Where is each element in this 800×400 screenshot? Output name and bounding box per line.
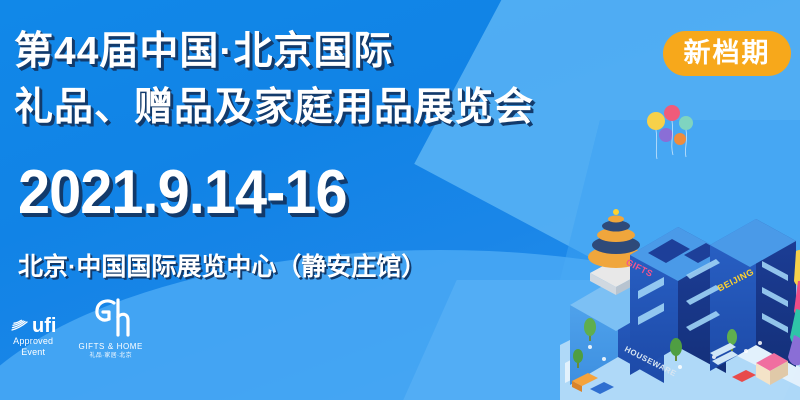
event-venue: 北京·中国国际展览中心（静安庄馆） bbox=[18, 250, 426, 284]
balloons-cluster bbox=[647, 105, 693, 159]
ufi-event-label: Event bbox=[21, 347, 45, 358]
isometric-city-illustration: GIFTS BEIJING HOUSEWARE EXHIBITION bbox=[560, 95, 800, 400]
illustration-artwork bbox=[560, 95, 800, 400]
logo-row: ufi Approved Event GIFTS & HOME 礼品·家居·北京 bbox=[10, 297, 143, 358]
title-line-2: 礼品、赠品及家庭用品展览会 bbox=[14, 80, 634, 136]
new-schedule-badge-label: 新档期 bbox=[684, 40, 771, 67]
headline-block: 第44届中国·北京国际 礼品、赠品及家庭用品展览会 bbox=[14, 24, 634, 136]
new-schedule-badge[interactable]: 新档期 bbox=[663, 31, 791, 76]
gifts-home-subtitle: 礼品·家居·北京 bbox=[90, 352, 132, 360]
ufi-approved-event-logo: ufi Approved Event bbox=[10, 316, 56, 358]
ufi-logo-top: ufi bbox=[10, 316, 56, 336]
ufi-swoosh-icon bbox=[10, 318, 30, 334]
gh-monogram-icon bbox=[88, 297, 134, 341]
ufi-wordmark: ufi bbox=[32, 316, 56, 336]
ufi-approved-label: Approved bbox=[13, 336, 53, 347]
title-line-1: 第44届中国·北京国际 bbox=[14, 24, 634, 80]
gifts-home-wordmark: GIFTS & HOME bbox=[78, 342, 143, 351]
gifts-home-logo: GIFTS & HOME 礼品·家居·北京 bbox=[78, 297, 143, 360]
event-date: 2021.9.14-16 bbox=[18, 160, 347, 226]
exhibition-promo-banner: 第44届中国·北京国际 礼品、赠品及家庭用品展览会 2021.9.14-16 北… bbox=[0, 0, 800, 400]
